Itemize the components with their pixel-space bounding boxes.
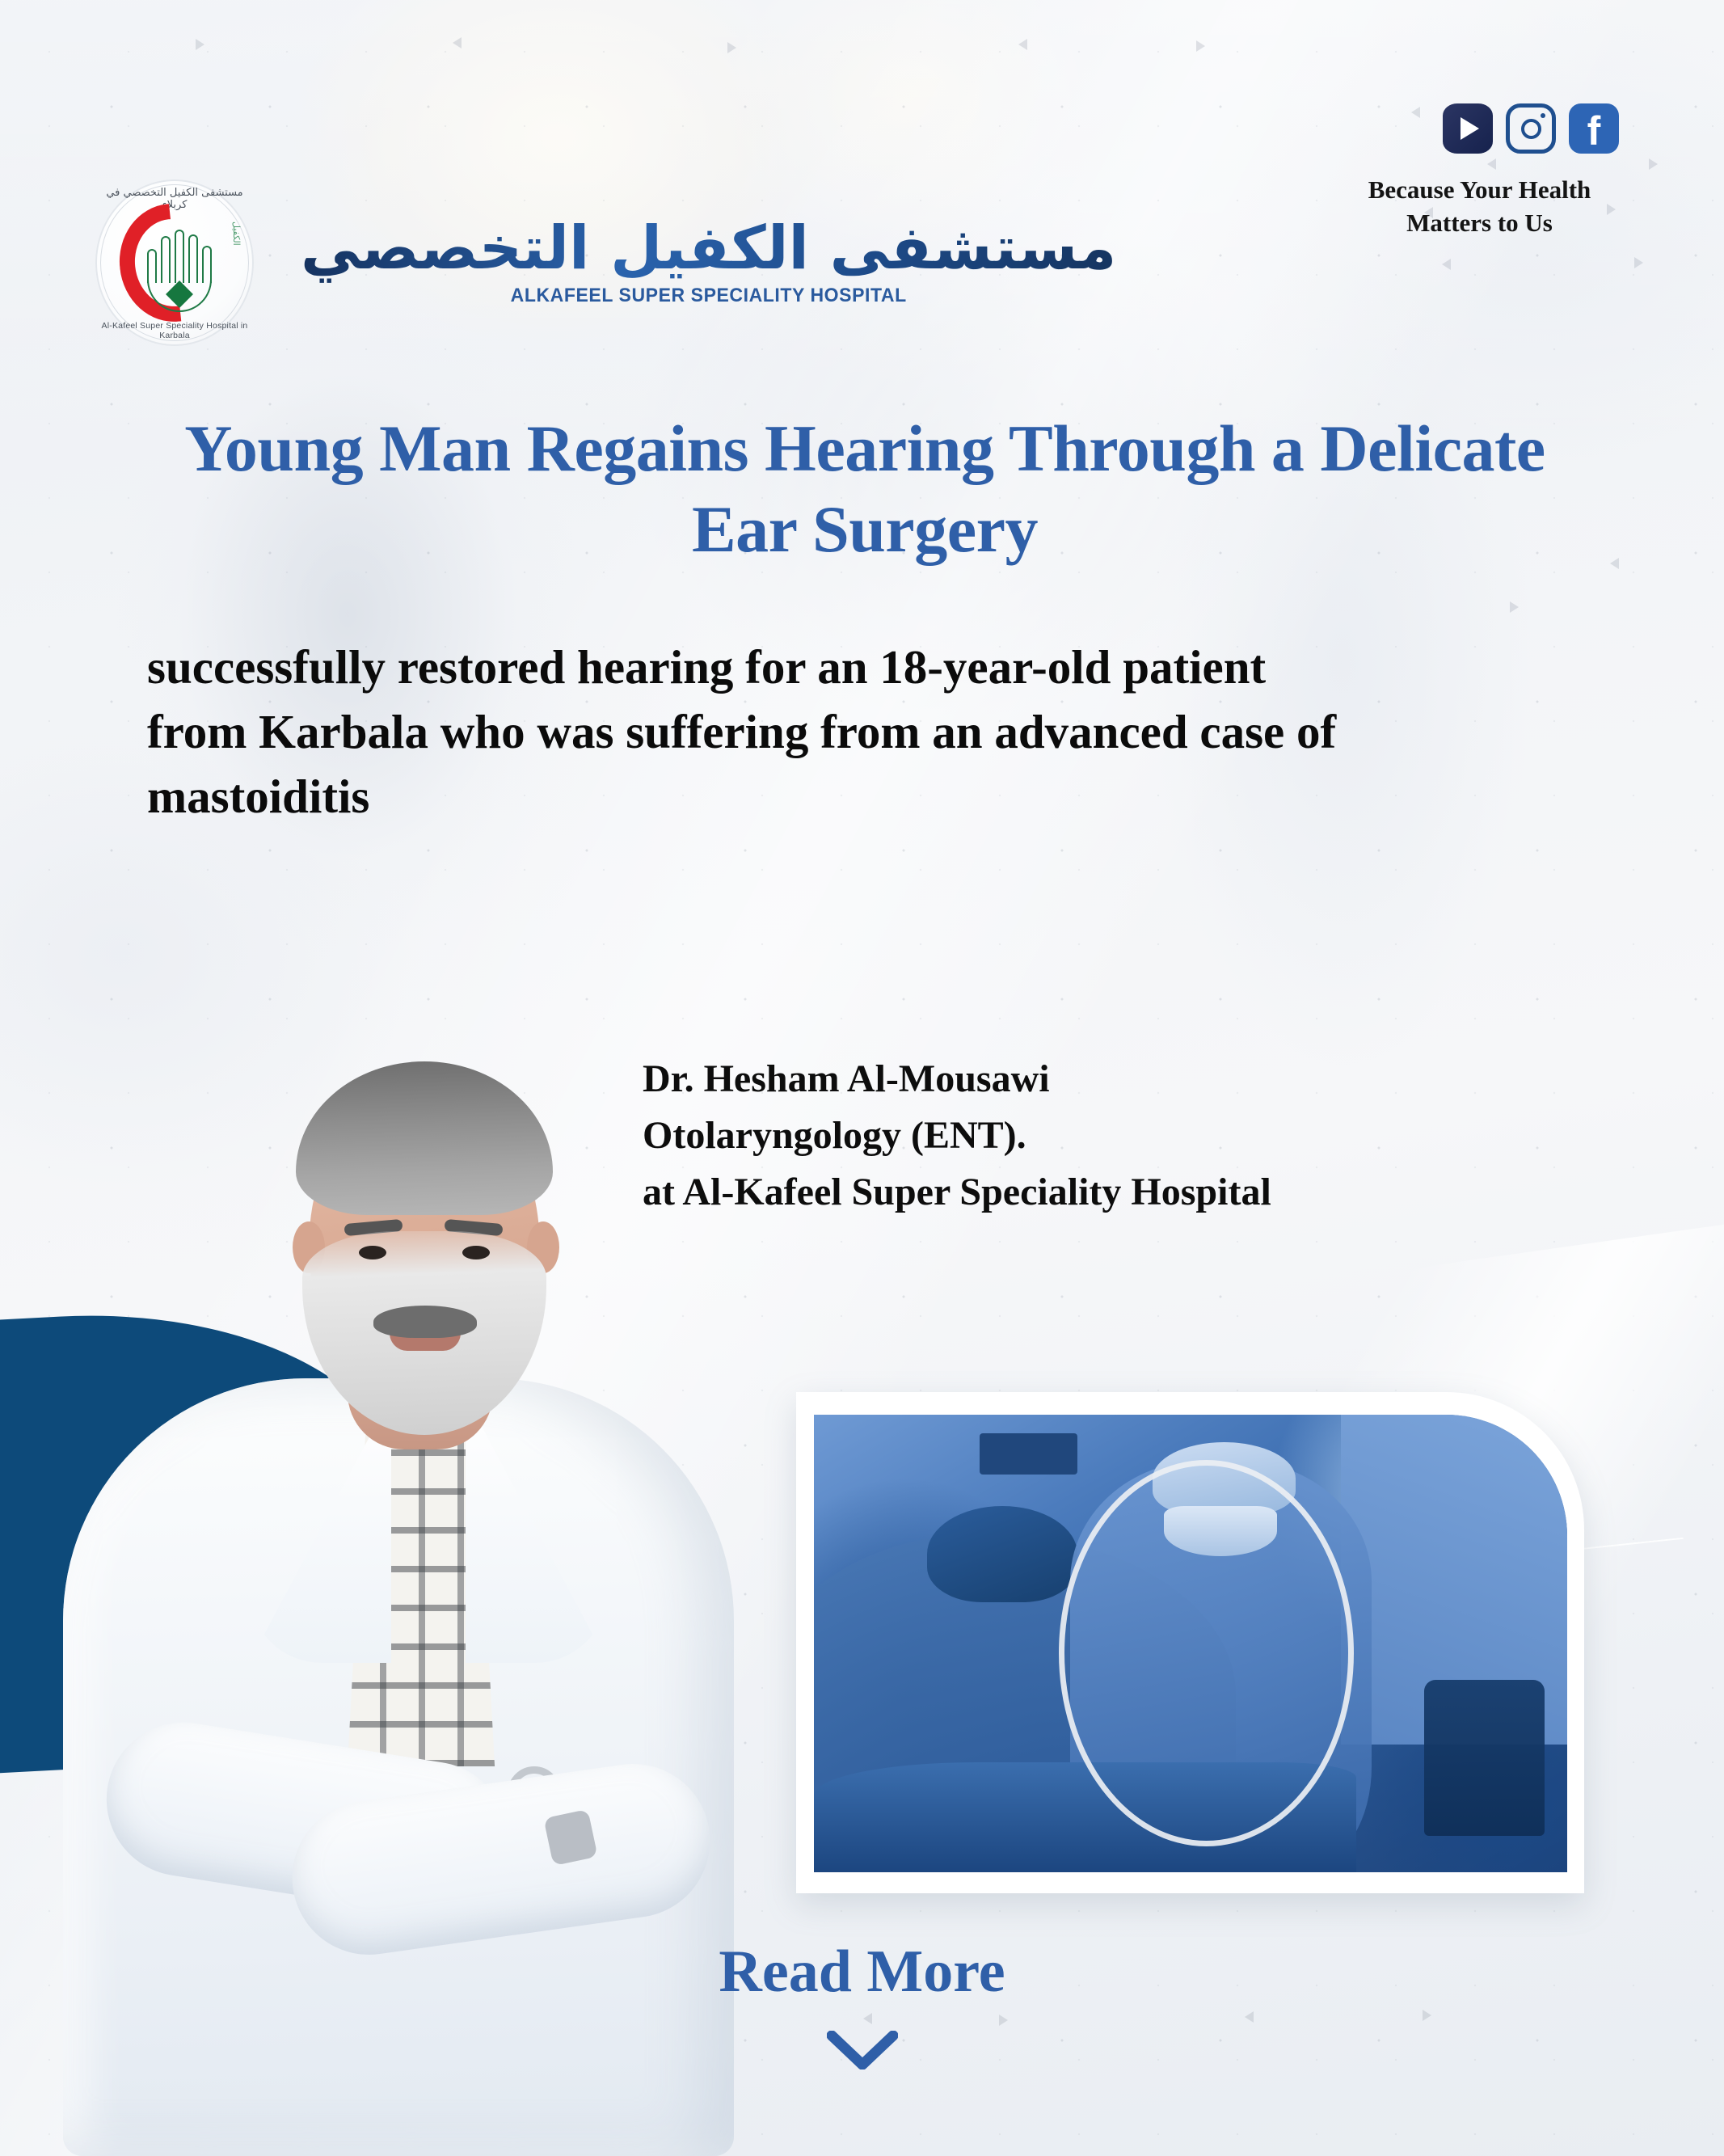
doctor-affiliation: at Al-Kafeel Super Speciality Hospital [643, 1164, 1271, 1221]
decor-triangle [1610, 558, 1619, 569]
chevron-down-icon[interactable] [827, 2031, 898, 2070]
decor-triangle [1196, 40, 1205, 52]
decor-triangle [1442, 259, 1451, 270]
lede-line-3: mastoiditis [147, 764, 1646, 829]
decor-triangle [196, 39, 204, 50]
wordmark-arabic: مستشفى الكفيل التخصصي [296, 218, 1121, 285]
instagram-icon[interactable] [1506, 103, 1556, 154]
camera-dot [1541, 113, 1545, 118]
play-triangle [1461, 117, 1479, 140]
hospital-wordmark: مستشفى الكفيل التخصصي ALKAFEEL SUPER SPE… [296, 218, 1121, 307]
green-hand-icon [145, 215, 220, 312]
camera-ring [1521, 119, 1541, 139]
tagline: Because Your Health Matters to Us [1340, 174, 1619, 240]
emblem-arabic-text: مستشفى الكفيل التخصصي في كربلاء [95, 187, 254, 211]
read-more-cta[interactable]: Read More [0, 1942, 1724, 2070]
social-links: f [1443, 103, 1619, 154]
surgeon-cap [1153, 1442, 1296, 1516]
decor-triangle [727, 42, 736, 53]
hospital-emblem-icon: مستشفى الكفيل التخصصي في كربلاء الكفيل A… [95, 179, 254, 346]
wordmark-english: ALKAFEEL SUPER SPECIALITY HOSPITAL [511, 285, 907, 307]
read-more-label: Read More [0, 1942, 1724, 2002]
emblem-english-text: Al-Kafeel Super Speciality Hospital in K… [95, 321, 254, 340]
hospital-logo[interactable]: مستشفى الكفيل التخصصي في كربلاء الكفيل A… [95, 179, 1121, 346]
emblem-side-script: الكفيل [220, 222, 241, 299]
decor-triangle [453, 37, 462, 49]
decor-triangle [1487, 158, 1496, 170]
assistant-hairnet [927, 1506, 1077, 1602]
decor-triangle [1634, 257, 1643, 268]
doctor-specialty: Otolaryngology (ENT). [643, 1108, 1271, 1164]
operating-table [814, 1762, 1356, 1872]
decor-triangle [453, 2115, 462, 2126]
page-title: Young Man Regains Hearing Through a Deli… [145, 408, 1584, 570]
youtube-icon[interactable] [1443, 103, 1493, 154]
or-chair [1424, 1680, 1545, 1835]
doctor-name: Dr. Hesham Al-Mousawi [643, 1051, 1271, 1108]
or-monitor [980, 1433, 1077, 1475]
surgery-photo[interactable] [814, 1415, 1567, 1872]
lede-line-2: from Karbala who was suffering from an a… [147, 699, 1646, 764]
decor-triangle [1649, 158, 1658, 170]
facebook-icon[interactable]: f [1569, 103, 1619, 154]
decor-triangle [1018, 39, 1027, 50]
poster-canvas: مستشفى الكفيل التخصصي في كربلاء الكفيل A… [0, 0, 1724, 2156]
lede-paragraph: successfully restored hearing for an 18-… [147, 635, 1646, 829]
decor-triangle [1411, 107, 1420, 118]
doctor-credit: Dr. Hesham Al-Mousawi Otolaryngology (EN… [643, 1051, 1271, 1221]
lede-line-1: successfully restored hearing for an 18-… [147, 635, 1646, 699]
decor-triangle [1510, 601, 1519, 613]
facebook-glyph: f [1587, 112, 1601, 151]
decor-triangle [647, 2116, 655, 2128]
